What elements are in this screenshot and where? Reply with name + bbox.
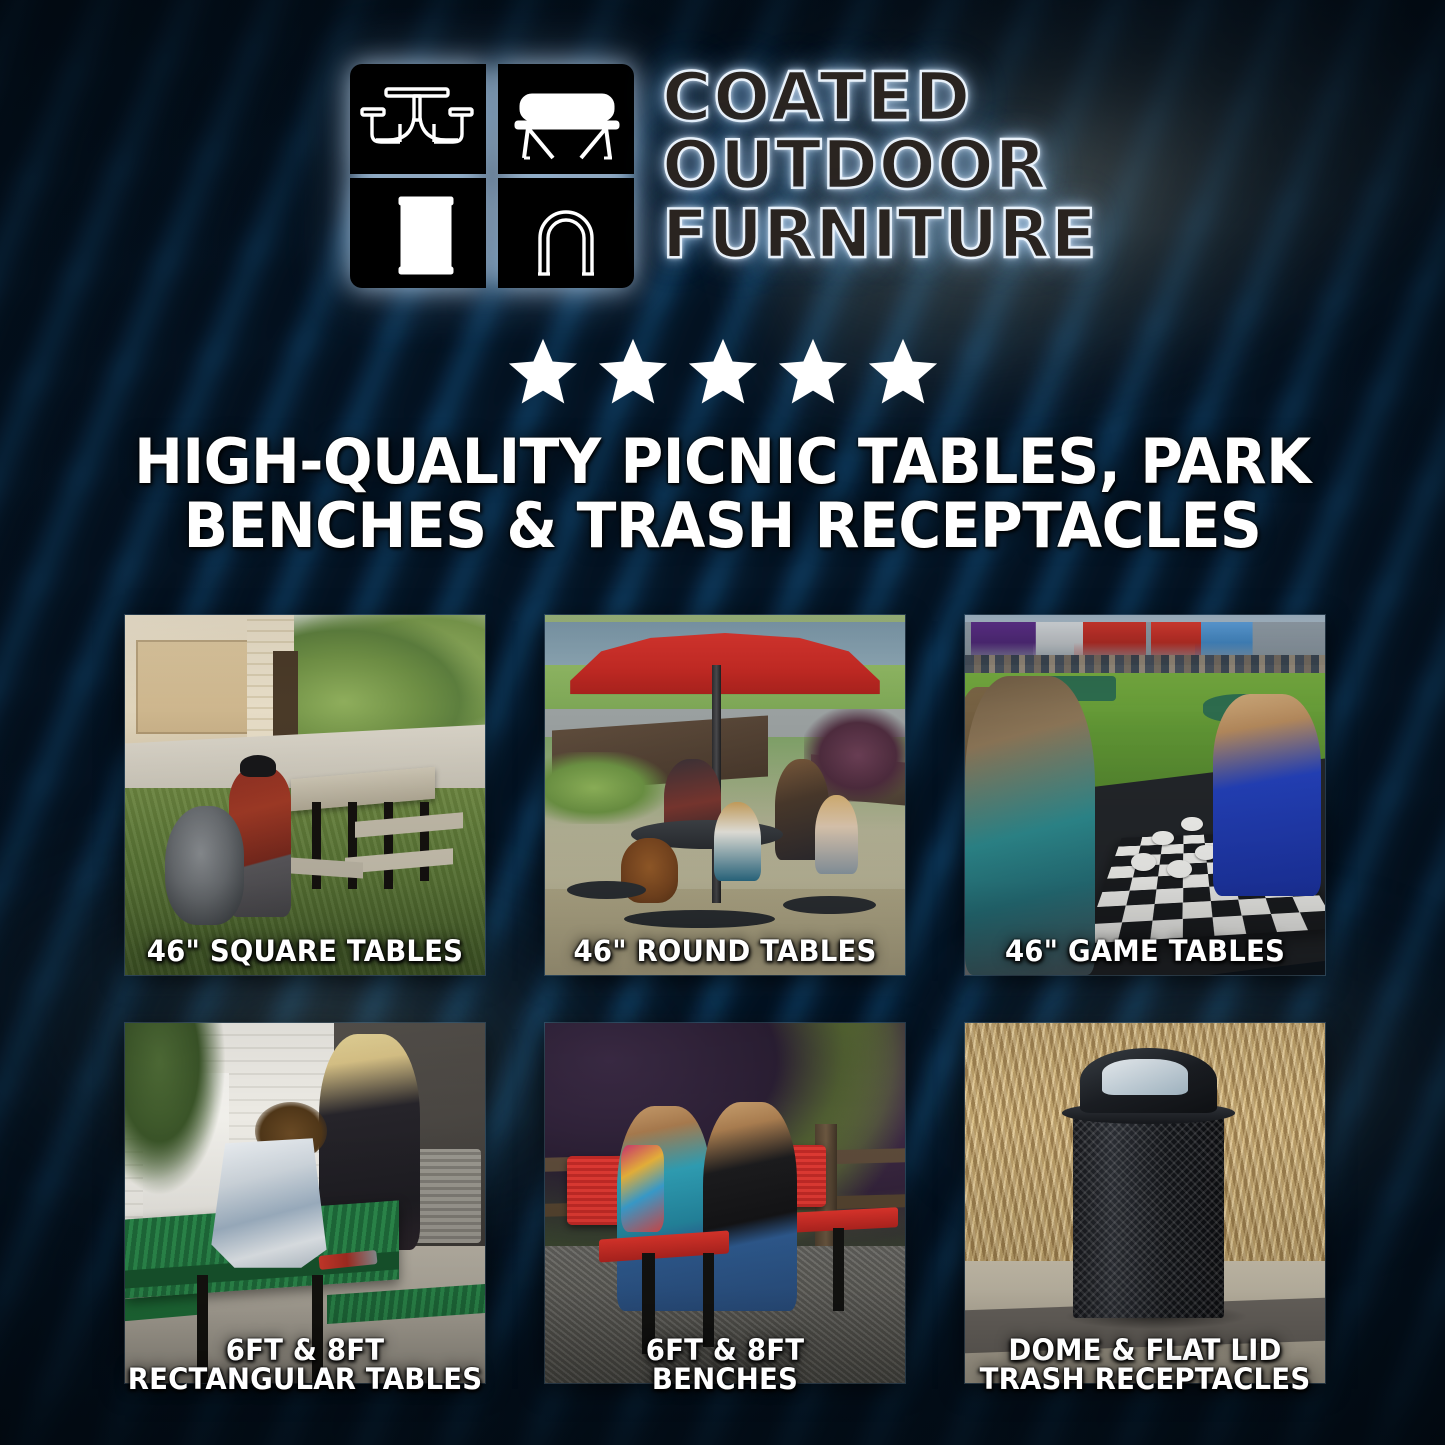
product-tile-rectangular-tables[interactable]: 6FT & 8FT RECTANGULAR TABLES xyxy=(125,1023,485,1383)
product-category-grid: 46" SQUARE TABLES xyxy=(125,615,1327,1383)
product-tile-benches[interactable]: 6FT & 8FT BENCHES xyxy=(545,1023,905,1383)
star-icon xyxy=(867,337,939,407)
product-photo-benches xyxy=(545,1023,905,1383)
star-icon xyxy=(507,337,579,407)
product-photo-rectangular-tables xyxy=(125,1023,485,1383)
product-tile-square-tables[interactable]: 46" SQUARE TABLES xyxy=(125,615,485,975)
logo-icon-grid xyxy=(348,62,636,290)
product-photo-game-tables xyxy=(965,615,1325,975)
star-icon xyxy=(777,337,849,407)
product-grid-row-2: 6FT & 8FT RECTANGULAR TABLES xyxy=(125,1023,1327,1383)
brand-logo: COATED OUTDOOR FURNITURE xyxy=(0,62,1445,290)
headline-line-2: BENCHES & TRASH RECEPTACLES xyxy=(100,494,1346,558)
product-grid-row-1: 46" SQUARE TABLES xyxy=(125,615,1327,975)
star-icon xyxy=(597,337,669,407)
brand-name-line-3: FURNITURE xyxy=(662,201,1097,267)
trash-receptacle-icon xyxy=(400,198,452,273)
brand-wordmark: COATED OUTDOOR FURNITURE xyxy=(662,62,1097,267)
product-tile-round-tables[interactable]: 46" ROUND TABLES xyxy=(545,615,905,975)
brand-name-line-1: COATED xyxy=(662,64,1097,130)
product-photo-trash-receptacles xyxy=(965,1023,1325,1383)
product-photo-square-tables xyxy=(125,615,485,975)
page-title: HIGH-QUALITY PICNIC TABLES, PARK BENCHES… xyxy=(0,430,1445,558)
promo-banner: COATED OUTDOOR FURNITURE HIGH-QUALITY PI… xyxy=(0,0,1445,1445)
product-photo-round-tables xyxy=(545,615,905,975)
star-rating xyxy=(0,337,1445,407)
star-icon xyxy=(687,337,759,407)
brand-name-line-2: OUTDOOR xyxy=(662,132,1097,198)
product-tile-trash-receptacles[interactable]: DOME & FLAT LID TRASH RECEPTACLES xyxy=(965,1023,1325,1383)
product-tile-game-tables[interactable]: 46" GAME TABLES xyxy=(965,615,1325,975)
headline-line-1: HIGH-QUALITY PICNIC TABLES, PARK xyxy=(100,430,1346,494)
